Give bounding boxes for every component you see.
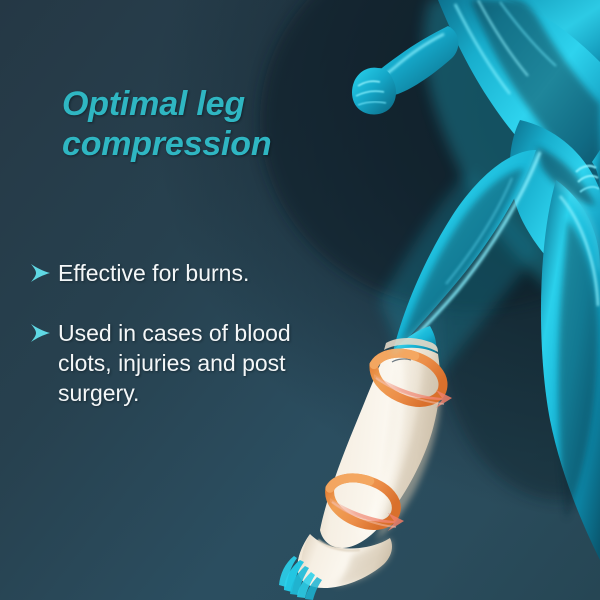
page-title: Optimal leg compression <box>62 84 342 164</box>
arrowhead-bullet-icon <box>28 321 54 351</box>
text-column: Optimal leg compression Effective for bu… <box>0 0 350 600</box>
arrowhead-bullet-icon <box>28 261 54 291</box>
list-item-label: Effective for burns. <box>58 258 249 288</box>
benefits-list: Effective for burns. Used in cases of bl… <box>28 258 346 408</box>
poster-canvas: Optimal leg compression Effective for bu… <box>0 0 600 600</box>
list-item-label: Used in cases of blood clots, injuries a… <box>58 318 346 408</box>
list-item: Used in cases of blood clots, injuries a… <box>28 318 346 408</box>
list-item: Effective for burns. <box>28 258 346 288</box>
